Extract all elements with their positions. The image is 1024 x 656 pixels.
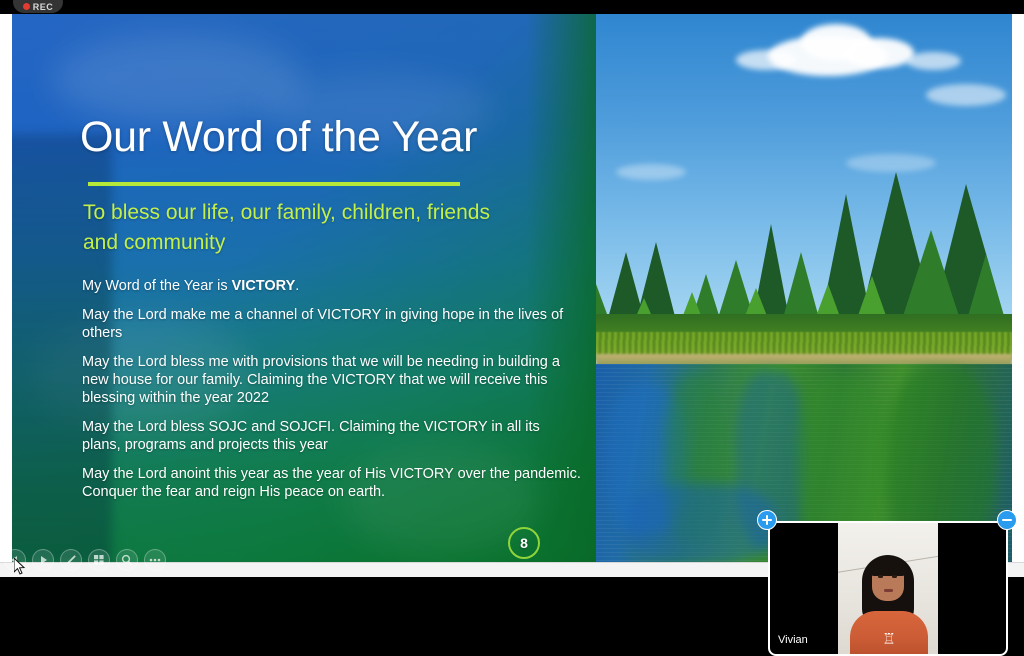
slide-number-badge: 8 (508, 527, 540, 559)
mouse-cursor (14, 558, 26, 576)
hair-fringe (869, 556, 907, 576)
title-underline (88, 182, 460, 186)
ellipsis-icon (148, 557, 162, 563)
zoom-tool-button[interactable] (116, 549, 138, 571)
mouth (884, 589, 893, 592)
cloud (736, 50, 796, 70)
screen-share-area: REC (0, 0, 1024, 576)
slide-paragraph: May the Lord anoint this year as the yea… (82, 465, 582, 501)
slide-body-text: My Word of the Year is VICTORY. May the … (82, 277, 582, 512)
grid-icon (93, 554, 105, 566)
slide-title: Our Word of the Year (80, 112, 477, 162)
top-black-bar (0, 0, 1024, 14)
slide-photo-forest-lake (596, 14, 1012, 562)
participant-video-tile[interactable]: ♖ Vivian (768, 521, 1008, 656)
all-slides-button[interactable] (88, 549, 110, 571)
shirt-logo: ♖ (878, 631, 900, 647)
slide-subtitle: To bless our life, our family, children,… (83, 198, 503, 258)
collapse-video-button[interactable] (997, 510, 1017, 530)
recording-label: REC (33, 2, 54, 12)
triangle-right-icon (38, 555, 48, 565)
record-dot-icon (23, 3, 30, 10)
slide-paragraph: May the Lord bless me with provisions th… (82, 353, 582, 407)
recording-indicator: REC (13, 0, 63, 13)
presentation-slide: Our Word of the Year To bless our life, … (12, 14, 1012, 562)
pen-tool-button[interactable] (60, 549, 82, 571)
cloud (906, 52, 961, 70)
next-slide-button[interactable] (32, 549, 54, 571)
more-options-button[interactable] (144, 549, 166, 571)
water-reflection (626, 484, 776, 562)
slide-paragraph: My Word of the Year is VICTORY. (82, 277, 582, 295)
slide-paragraph: May the Lord make me a channel of VICTOR… (82, 306, 582, 342)
cloud (844, 38, 914, 68)
eye (892, 575, 897, 578)
magnifier-icon (121, 554, 133, 566)
slide-paragraph: May the Lord bless SOJC and SOJCFI. Clai… (82, 418, 582, 454)
expand-video-button[interactable] (757, 510, 777, 530)
minus-icon (1002, 519, 1012, 521)
cloud (926, 84, 1006, 106)
pen-icon (65, 554, 77, 566)
participant-name-label: Vivian (778, 634, 808, 646)
video-feed: ♖ (838, 523, 938, 654)
plus-icon-vertical (766, 515, 768, 525)
eye (878, 575, 883, 578)
presentation-toolbar (4, 549, 166, 571)
